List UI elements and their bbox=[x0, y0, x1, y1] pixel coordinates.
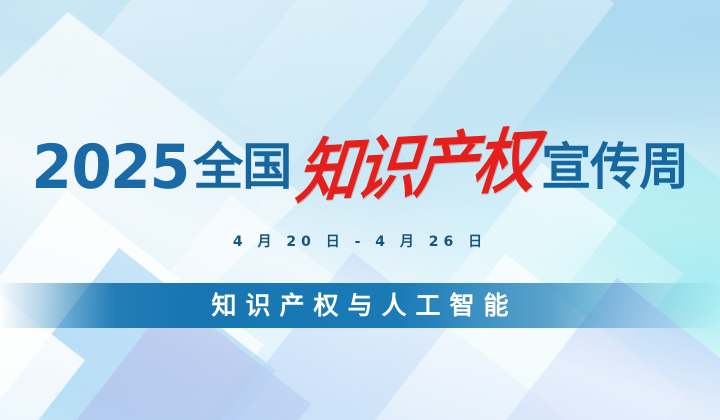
headline-emphasis-calligraphy: 知识产权 bbox=[294, 126, 537, 208]
ip-week-poster: 2025 全国 知识产权 宣传周 4 月 20 日 - 4 月 26 日 知识产… bbox=[0, 0, 720, 420]
headline-scope: 全国 bbox=[193, 142, 291, 192]
headline-suffix: 宣传周 bbox=[541, 142, 688, 192]
headline-year: 2025 bbox=[31, 137, 191, 198]
poster-headline: 2025 全国 知识产权 宣传周 bbox=[0, 126, 720, 208]
poster-content: 2025 全国 知识产权 宣传周 4 月 20 日 - 4 月 26 日 知识产… bbox=[0, 0, 720, 420]
poster-theme-banner: 知识产权与人工智能 bbox=[0, 283, 720, 328]
poster-theme-text: 知识产权与人工智能 bbox=[202, 293, 517, 318]
poster-date-range: 4 月 20 日 - 4 月 26 日 bbox=[0, 231, 720, 251]
